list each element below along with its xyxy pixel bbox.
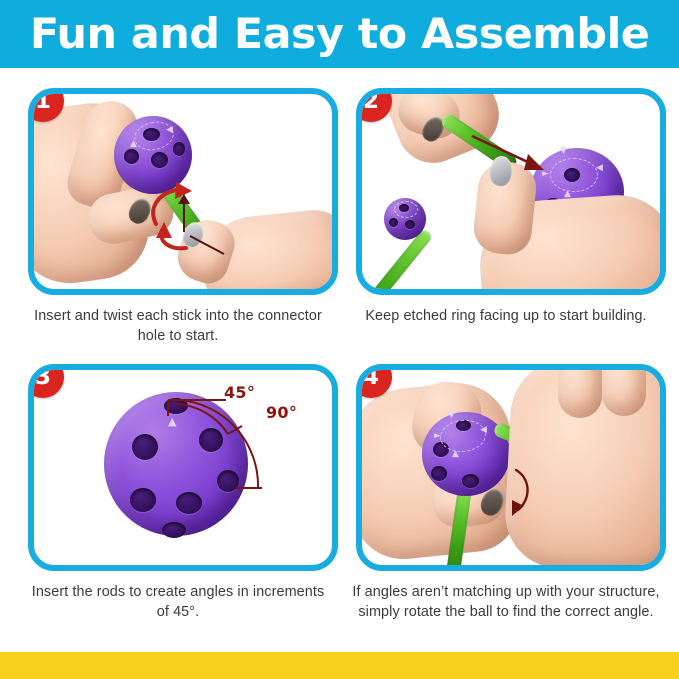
etch-arrow: ▼ <box>448 411 455 420</box>
step-1-photo: ▲ ◀ 1 <box>28 88 338 295</box>
ball-hole <box>405 220 415 229</box>
etch-arrow: ◀ <box>166 126 173 135</box>
step-card-3: ▲ 45° 90° 3 Insert the rods to create an… <box>28 364 338 623</box>
ball-hole <box>130 488 156 512</box>
footer-bar <box>0 652 679 679</box>
step-3-photo: ▲ 45° 90° 3 <box>28 364 338 571</box>
rotate-arrow-icon <box>498 464 546 522</box>
angle-label-90: 90° <box>266 403 297 422</box>
direction-arrow-icon <box>470 132 562 178</box>
step-card-2: ▼ ◀ ► ▲ 2 Keep etched ring facing up to … <box>356 88 666 327</box>
ball-hole <box>132 434 158 460</box>
header-banner: Fun and Easy to Assemble <box>0 0 679 68</box>
step-1-scene: ▲ ◀ <box>34 94 332 289</box>
page-title: Fun and Easy to Assemble <box>30 13 649 55</box>
ball-hole <box>462 474 479 488</box>
purple-ball-small <box>384 198 426 240</box>
steps-grid: ▲ ◀ 1 Insert and <box>0 68 679 652</box>
step-card-4: ▼ ► ◀ ▲ 4 If angles aren’t match <box>356 364 666 623</box>
etch-arrow: ▲ <box>130 140 137 149</box>
ball-hole <box>162 522 186 538</box>
ball-hole <box>151 152 168 168</box>
angle-label-45: 45° <box>224 383 255 402</box>
ball-hole <box>431 466 447 481</box>
ball-hole <box>173 142 185 156</box>
step-1-caption: Insert and twist each stick into the con… <box>28 307 328 347</box>
step-2-caption: Keep etched ring facing up to start buil… <box>356 307 656 327</box>
etch-arrow: ◀ <box>596 164 603 173</box>
step-3-caption: Insert the rods to create angles in incr… <box>28 583 328 623</box>
step-4-caption: If angles aren’t matching up with your s… <box>352 583 660 623</box>
step-card-1: ▲ ◀ 1 Insert and <box>28 88 338 347</box>
right-finger <box>558 370 602 418</box>
step-4-scene: ▼ ► ◀ ▲ <box>362 370 660 565</box>
etch-arrow: ► <box>434 432 441 441</box>
step-3-scene: ▲ 45° 90° <box>34 370 332 565</box>
step-2-scene: ▼ ◀ ► ▲ <box>362 94 660 289</box>
right-finger <box>602 370 646 416</box>
etch-arrow: ▲ <box>452 450 459 459</box>
ball-hole <box>389 218 398 227</box>
etch-arrow: ◀ <box>480 426 487 435</box>
step-2-photo: ▼ ◀ ► ▲ 2 <box>356 88 666 295</box>
etched-ring <box>132 118 177 154</box>
twist-arrow-icon <box>132 170 252 262</box>
ball-hole <box>124 149 139 164</box>
step-4-photo: ▼ ► ◀ ▲ 4 <box>356 364 666 571</box>
etched-ring <box>394 201 418 218</box>
